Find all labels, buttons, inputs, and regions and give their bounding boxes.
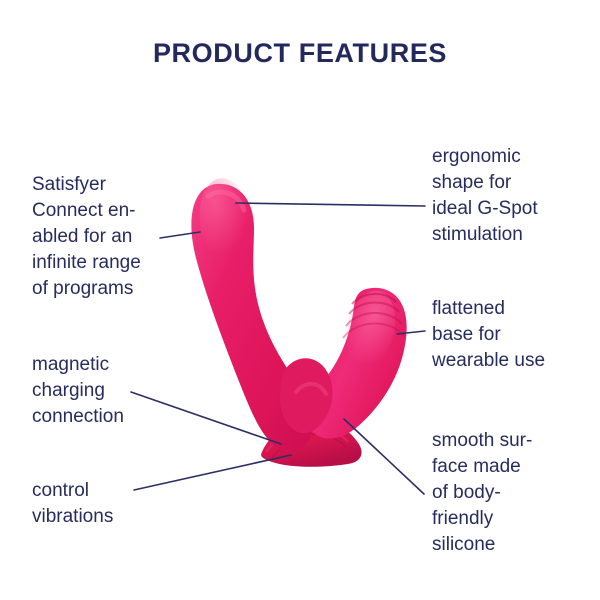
leader-line-smooth	[344, 419, 424, 494]
callout-smooth-surface: smooth sur- face made of body- friendly …	[432, 428, 598, 558]
infographic-canvas: PRODUCT FEATURES	[0, 0, 600, 600]
callout-satisfyer-connect: Satisfyer Connect en- abled for an infin…	[32, 172, 192, 302]
callout-ergonomic-shape: ergonomic shape for ideal G-Spot stimula…	[432, 144, 600, 248]
leader-line-flattened	[397, 331, 425, 334]
callout-control-vibrations: control vibrations	[32, 478, 192, 530]
callout-magnetic-charging: magnetic charging connection	[32, 352, 192, 430]
callout-flattened-base: flattened base for wearable use	[432, 296, 600, 374]
leader-line-ergonomic	[236, 203, 425, 206]
